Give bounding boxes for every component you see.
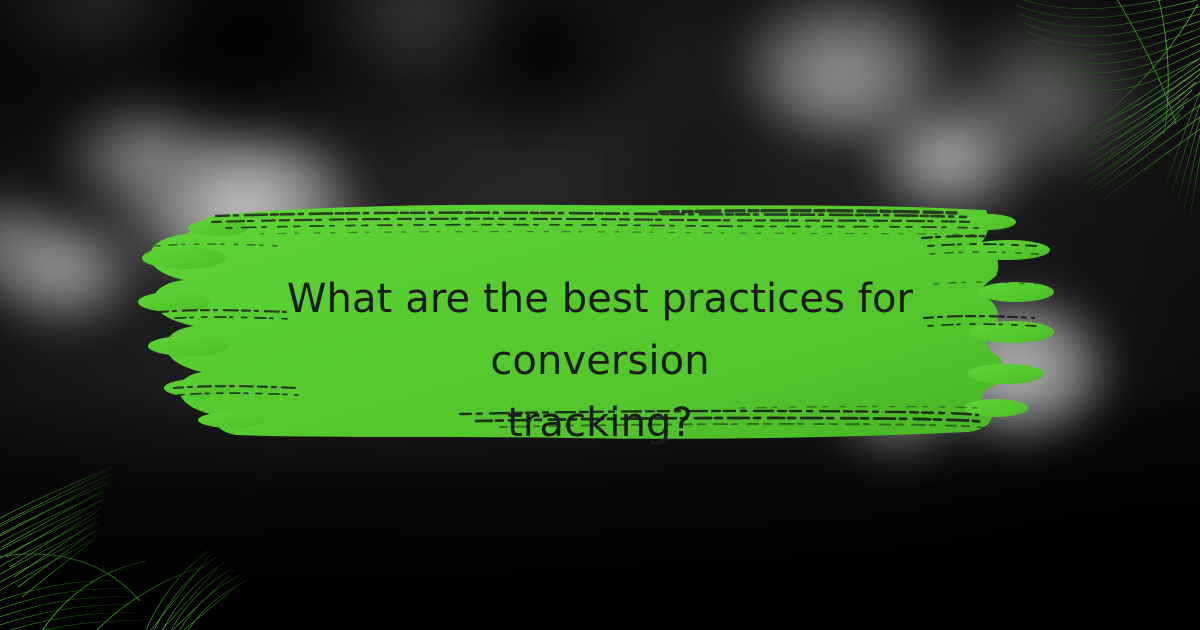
social-card: What are the best practices for conversi… [0, 0, 1200, 630]
page-title: What are the best practices for conversi… [190, 268, 1010, 454]
